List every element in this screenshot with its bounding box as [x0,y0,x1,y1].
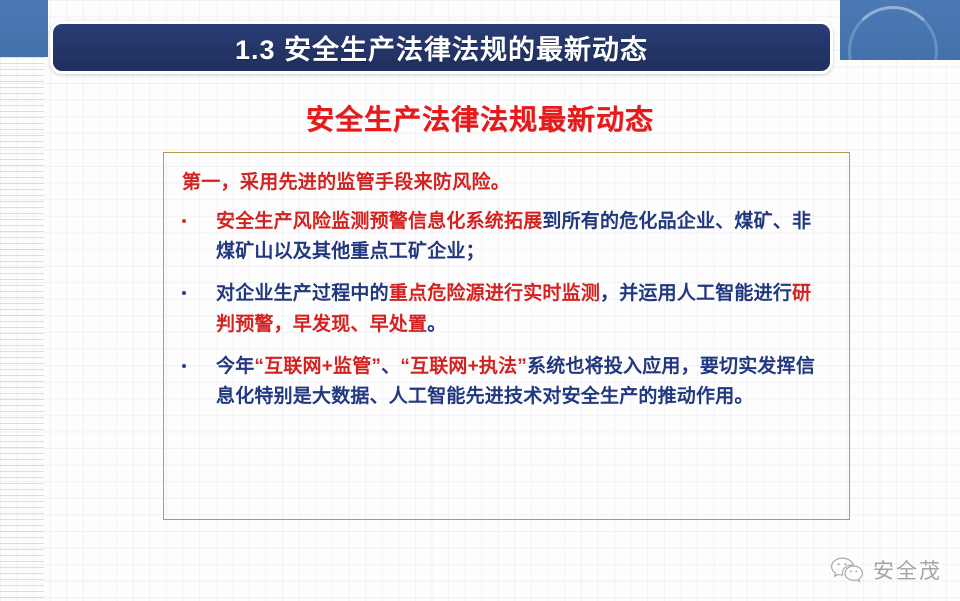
bullet-text-segment: 重点危险源进行实时监测 [389,283,600,304]
decor-block-top-left [0,0,48,57]
bullet-text-segment: 、 [381,356,400,377]
bullet-text-segment: 安全生产风险监测预警信息化系统拓展 [216,211,542,232]
lead-paragraph: 第一，采用先进的监管手段来防风险。 [182,169,829,197]
bullet-item: 今年“互联网+监管”、“互联网+执法”系统也将投入应用，要切实发挥信息化特别是大… [178,352,829,414]
title-banner: 1.3 安全生产法律法规的最新动态 [50,21,833,74]
bullet-text-segment: “互联网+监管” [254,356,381,377]
bullet-text-segment: 今年 [216,356,254,377]
bullet-dot-icon [182,219,186,223]
decor-block-top-right [840,0,960,60]
bullet-text-segment: “互联网+执法” [400,356,527,377]
page-title: 1.3 安全生产法律法规的最新动态 [235,28,648,67]
slide-canvas: 1.3 安全生产法律法规的最新动态 安全生产法律法规最新动态 第一，采用先进的监… [0,0,960,601]
watermark: 安全茂 [830,555,942,585]
bullet-text-segment: 对企业生产过程中的 [216,283,389,304]
bullet-text-segment: ，并运用人工智能进行 [600,283,792,304]
subtitle-heading: 安全生产法律法规最新动态 [0,98,960,138]
bullet-text-segment: 。 [427,314,446,335]
bullet-item: 安全生产风险监测预警信息化系统拓展到所有的危化品企业、煤矿、非煤矿山以及其他重点… [178,207,829,269]
decor-left-stripes [0,57,44,601]
wechat-icon [830,557,864,583]
content-box: 第一，采用先进的监管手段来防风险。 安全生产风险监测预警信息化系统拓展到所有的危… [163,152,850,520]
bullet-dot-icon [182,291,186,295]
bullet-list: 安全生产风险监测预警信息化系统拓展到所有的危化品企业、煤矿、非煤矿山以及其他重点… [178,207,829,414]
watermark-label: 安全茂 [873,555,942,585]
bullet-dot-icon [182,364,186,368]
bullet-item: 对企业生产过程中的重点危险源进行实时监测，并运用人工智能进行研判预警，早发现、早… [178,279,829,341]
